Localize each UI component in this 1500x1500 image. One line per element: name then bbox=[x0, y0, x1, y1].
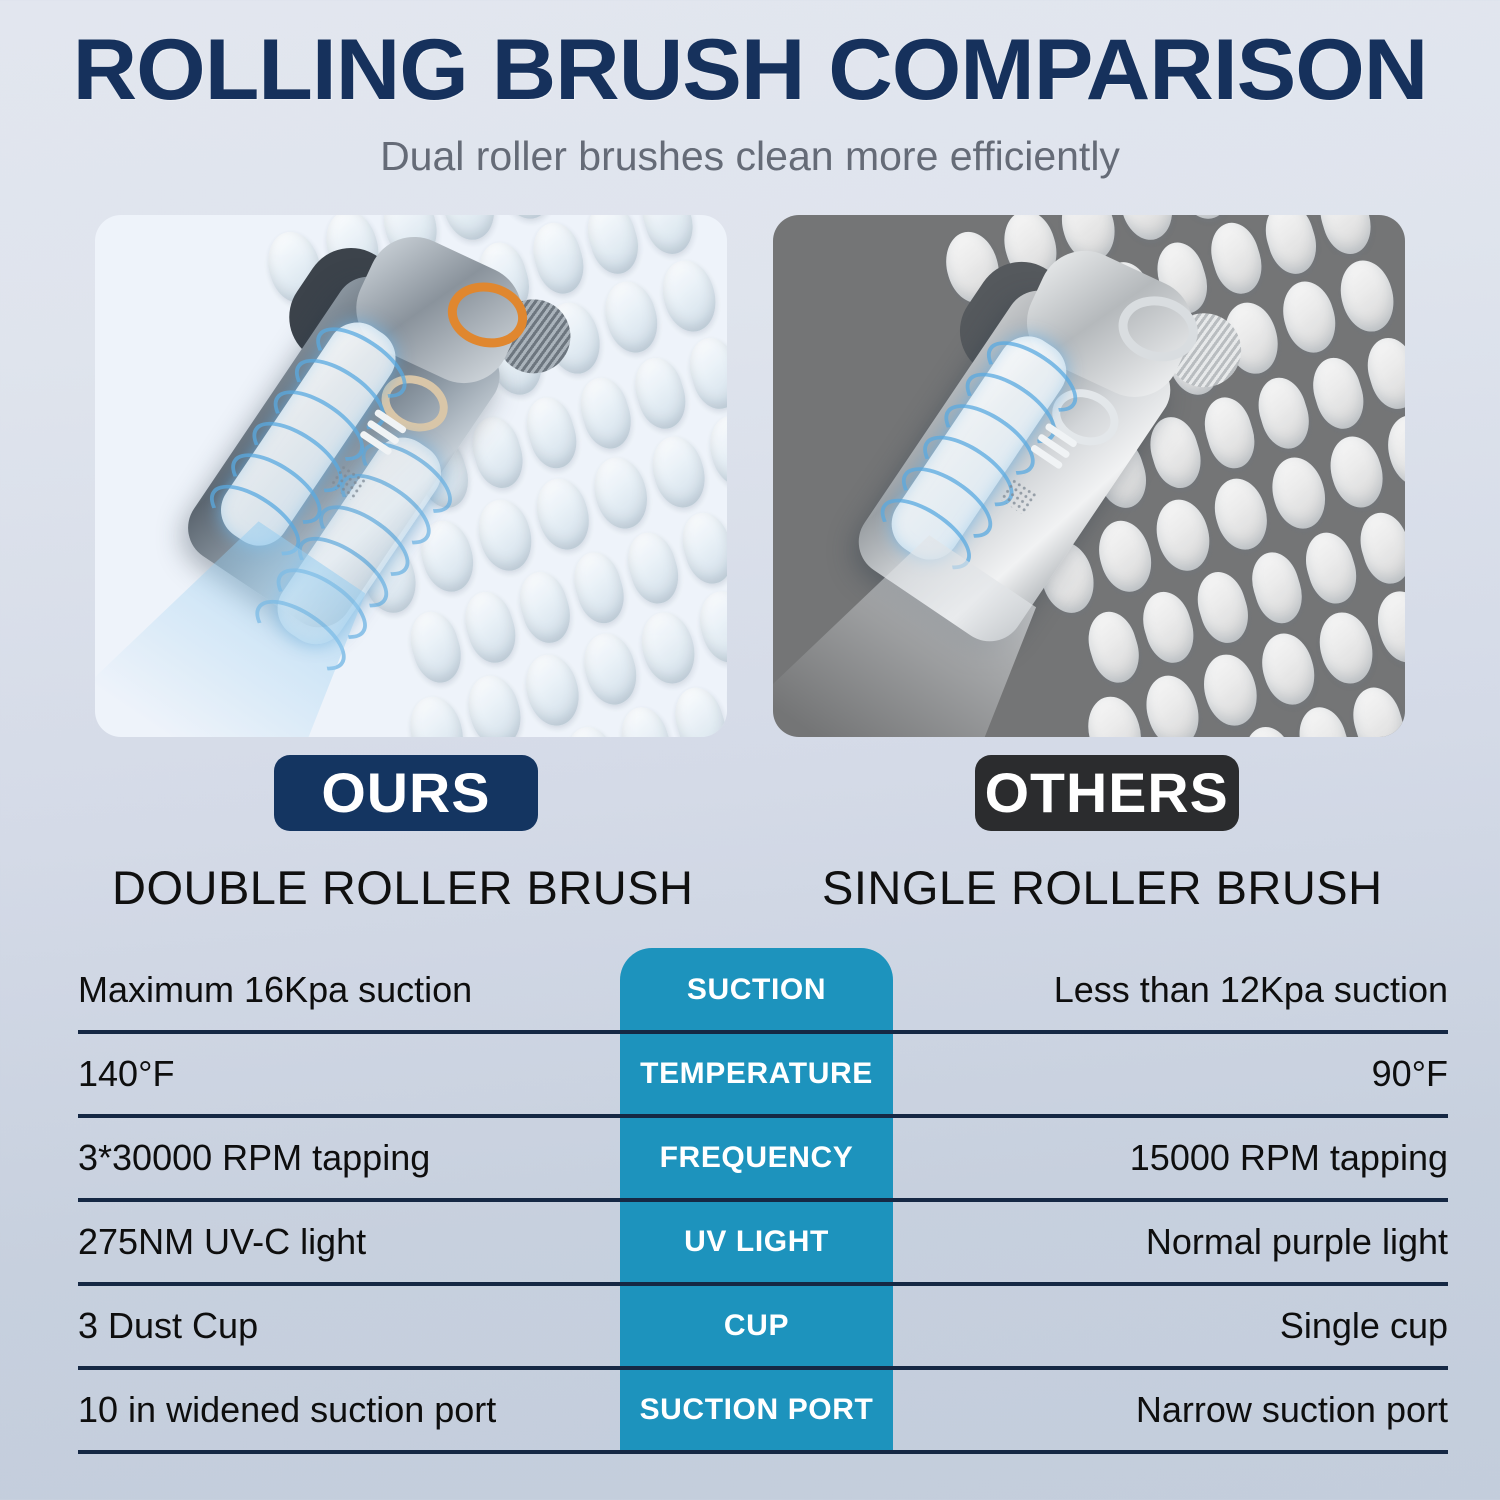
ours-badge: OURS bbox=[274, 755, 538, 831]
comparison-rows: Maximum 16Kpa suctionSUCTIONLess than 12… bbox=[0, 948, 1500, 1452]
others-product-panel bbox=[773, 215, 1405, 737]
ours-value-cell: 140°F bbox=[78, 1032, 598, 1116]
ours-value-cell: Maximum 16Kpa suction bbox=[78, 948, 598, 1032]
table-row: 3 Dust CupCUPSingle cup bbox=[0, 1284, 1500, 1368]
row-divider bbox=[78, 1450, 1448, 1454]
feature-label-cell: SUCTION PORT bbox=[620, 1368, 893, 1452]
others-value-cell: Single cup bbox=[920, 1284, 1448, 1368]
feature-label-cell: SUCTION bbox=[620, 948, 893, 1032]
ours-value-cell: 10 in widened suction port bbox=[78, 1368, 598, 1452]
table-row: 3*30000 RPM tappingFREQUENCY15000 RPM ta… bbox=[0, 1116, 1500, 1200]
table-row: 10 in widened suction portSUCTION PORTNa… bbox=[0, 1368, 1500, 1452]
ours-caption: DOUBLE ROLLER BRUSH bbox=[112, 860, 694, 915]
ours-value-cell: 3 Dust Cup bbox=[78, 1284, 598, 1368]
others-value-cell: Narrow suction port bbox=[920, 1368, 1448, 1452]
table-row: 140°FTEMPERATURE90°F bbox=[0, 1032, 1500, 1116]
ours-badge-label: OURS bbox=[321, 765, 490, 821]
feature-label-cell: UV LIGHT bbox=[620, 1200, 893, 1284]
page-title: ROLLING BRUSH COMPARISON bbox=[0, 22, 1500, 118]
others-badge-label: OTHERS bbox=[985, 765, 1229, 821]
ours-value-cell: 3*30000 RPM tapping bbox=[78, 1116, 598, 1200]
ours-value-cell: 275NM UV-C light bbox=[78, 1200, 598, 1284]
others-value-cell: 90°F bbox=[920, 1032, 1448, 1116]
header: ROLLING BRUSH COMPARISON Dual roller bru… bbox=[0, 0, 1500, 182]
page-subtitle: Dual roller brushes clean more efficient… bbox=[0, 130, 1500, 182]
product-image-panels bbox=[0, 215, 1500, 737]
feature-label-cell: CUP bbox=[620, 1284, 893, 1368]
others-badge: OTHERS bbox=[975, 755, 1239, 831]
others-value-cell: Less than 12Kpa suction bbox=[920, 948, 1448, 1032]
table-row: Maximum 16Kpa suctionSUCTIONLess than 12… bbox=[0, 948, 1500, 1032]
others-value-cell: 15000 RPM tapping bbox=[920, 1116, 1448, 1200]
feature-label-cell: TEMPERATURE bbox=[620, 1032, 893, 1116]
feature-label-cell: FREQUENCY bbox=[620, 1116, 893, 1200]
ours-product-panel bbox=[95, 215, 727, 737]
table-row: 275NM UV-C lightUV LIGHTNormal purple li… bbox=[0, 1200, 1500, 1284]
others-value-cell: Normal purple light bbox=[920, 1200, 1448, 1284]
others-caption: SINGLE ROLLER BRUSH bbox=[822, 860, 1383, 915]
diagonal-split-overlay-right bbox=[773, 215, 1405, 737]
diagonal-split-overlay-left bbox=[95, 215, 727, 737]
comparison-table: Maximum 16Kpa suctionSUCTIONLess than 12… bbox=[0, 948, 1500, 1454]
